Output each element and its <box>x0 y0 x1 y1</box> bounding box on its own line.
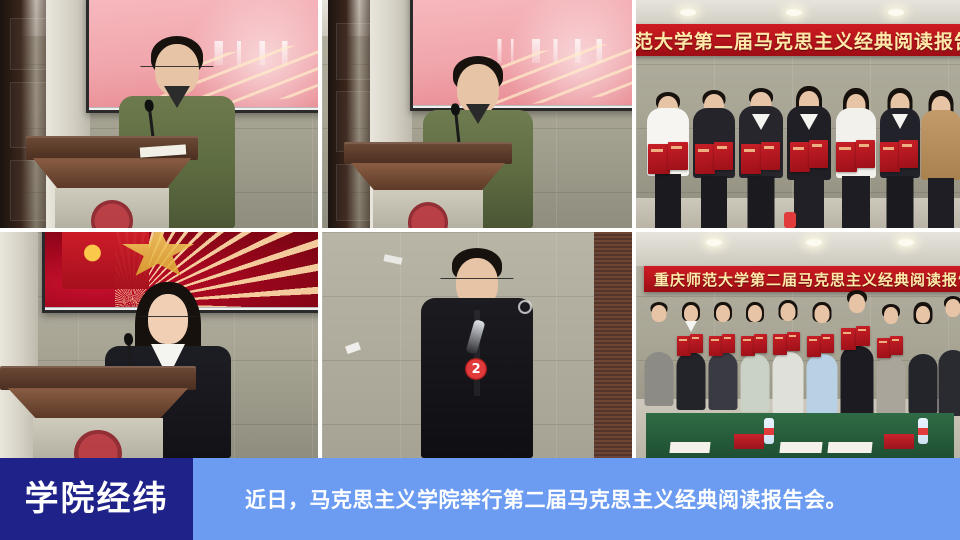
award-person <box>738 88 784 228</box>
award-person <box>806 302 838 414</box>
event-banner-text: 重庆师范大学第二届马克思主义经典阅读报告会 <box>654 269 960 290</box>
ceiling <box>636 232 960 266</box>
award-person <box>938 296 960 416</box>
screenshot-root: 范大学第二届马克思主义经典阅读报告会 <box>0 0 960 540</box>
award-person <box>840 290 874 416</box>
event-banner: 重庆师范大学第二届马克思主义经典阅读报告会 <box>644 266 960 292</box>
wood-column <box>594 232 632 458</box>
event-banner: 范大学第二届马克思主义经典阅读报告会 <box>636 24 960 56</box>
ceiling-light <box>898 239 914 246</box>
name-placard <box>884 434 914 449</box>
column-logo-block: 学院经纬 <box>0 458 193 540</box>
award-person <box>878 88 922 228</box>
name-placard <box>734 434 764 449</box>
photo-1-speaker-green-jacket <box>0 0 318 228</box>
photo-4-speaker-black-blazer <box>0 232 318 458</box>
wall-mark <box>518 300 532 314</box>
paper-sheet <box>669 442 710 453</box>
caption-bar: 学院经纬 近日，马克思主义学院举行第二届马克思主义经典阅读报告会。 <box>0 458 960 540</box>
ceiling-light <box>706 239 722 246</box>
podium <box>344 142 512 228</box>
award-person <box>646 92 690 228</box>
photo-5-student-microphone: 2 <box>322 232 632 458</box>
paper-sheet <box>827 442 872 453</box>
water-bottle <box>784 212 796 228</box>
award-person <box>676 302 706 410</box>
award-person <box>876 304 906 414</box>
award-person <box>834 88 878 228</box>
water-bottle <box>918 418 928 444</box>
event-banner-text: 范大学第二届马克思主义经典阅读报告会 <box>636 27 960 54</box>
photo-3-group-award-7: 范大学第二届马克思主义经典阅读报告会 <box>636 0 960 228</box>
water-bottle <box>764 418 774 444</box>
award-person <box>920 90 960 228</box>
award-person <box>908 302 938 414</box>
ceiling-light <box>806 239 822 246</box>
caption-block: 近日，马克思主义学院举行第二届马克思主义经典阅读报告会。 <box>193 458 960 540</box>
award-person <box>644 302 674 406</box>
photo-collage: 范大学第二届马克思主义经典阅读报告会 <box>0 0 960 458</box>
award-person <box>692 90 736 228</box>
podium <box>0 366 196 458</box>
caption-text: 近日，马克思主义学院举行第二届马克思主义经典阅读报告会。 <box>245 484 847 514</box>
award-person <box>772 300 804 414</box>
award-person <box>708 302 738 410</box>
award-person <box>740 302 770 412</box>
photo-2-speaker-green-jacket <box>322 0 632 228</box>
photo-6-group-award-10: 重庆师范大学第二届马克思主义经典阅读报告会 <box>636 232 960 458</box>
award-person <box>786 86 832 228</box>
paper-sheet <box>779 442 822 453</box>
column-logo-text: 学院经纬 <box>25 482 169 516</box>
